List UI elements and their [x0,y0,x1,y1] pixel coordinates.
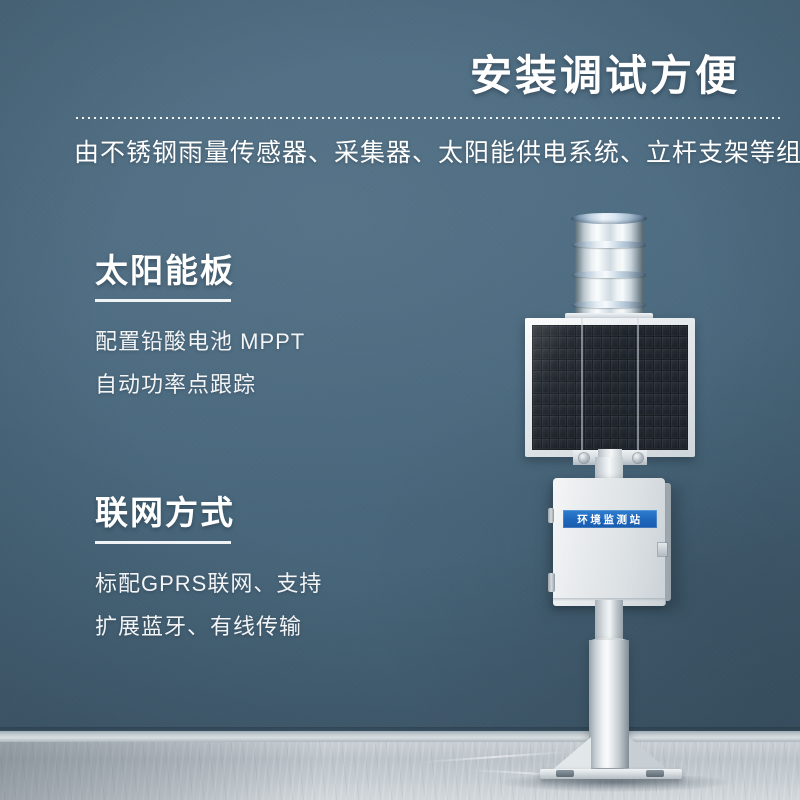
solar-cell [542,439,550,449]
solar-cell [602,382,610,392]
solar-cell [628,394,636,404]
solar-cell [585,405,593,415]
solar-cell [636,405,644,415]
solar-cell [611,405,619,415]
solar-cell [567,337,575,347]
solar-cell [611,337,619,347]
solar-cell [542,405,550,415]
solar-cell [567,416,575,426]
solar-cell [654,360,662,370]
solar-cell [671,382,679,392]
solar-cell [619,405,627,415]
solar-cell [593,326,601,336]
solar-cell [619,427,627,437]
solar-cell [567,371,575,381]
solar-cell [671,360,679,370]
solar-cell [559,326,567,336]
solar-cell [619,349,627,359]
solar-cell [671,416,679,426]
data-logger-enclosure [553,478,665,606]
solar-cell [654,349,662,359]
solar-cell [533,439,541,449]
solar-cell [542,349,550,359]
solar-cell [550,337,558,347]
solar-cell [585,326,593,336]
solar-cell [542,326,550,336]
product-marketing-image: 安装调试方便 由不锈钢雨量传感器、采集器、太阳能供电系统、立杆支架等组成 太阳能… [0,0,800,800]
solar-cell [654,337,662,347]
solar-cell [567,360,575,370]
solar-cell [585,349,593,359]
solar-cell [576,326,584,336]
solar-cell [654,371,662,381]
solar-cell [628,416,636,426]
solar-cell [602,416,610,426]
solar-cell [619,337,627,347]
solar-cell [619,326,627,336]
solar-cell [619,360,627,370]
solar-cell [542,427,550,437]
solar-cell [533,382,541,392]
solar-cell [645,349,653,359]
solar-cell [576,371,584,381]
solar-cell [679,427,687,437]
solar-cell [550,416,558,426]
solar-panel-cell-grid [532,325,688,450]
solar-cell [611,371,619,381]
solar-cell [542,360,550,370]
solar-cell [593,349,601,359]
solar-cell [671,326,679,336]
solar-cell [679,349,687,359]
solar-cell [611,439,619,449]
solar-cell [645,326,653,336]
solar-cell [645,439,653,449]
solar-cell [679,439,687,449]
solar-cell [567,394,575,404]
solar-cell [585,416,593,426]
rain-gauge-rim [571,213,647,224]
solar-cell [619,439,627,449]
solar-cell [619,382,627,392]
solar-cell [550,405,558,415]
solar-cell [576,382,584,392]
solar-cell [559,360,567,370]
bracket-bolt [579,453,589,463]
solar-cell [654,427,662,437]
solar-cell [654,405,662,415]
solar-cell [679,405,687,415]
solar-cell [567,326,575,336]
solar-cell [602,371,610,381]
solar-cell [671,427,679,437]
solar-cell [559,371,567,381]
solar-cell [645,382,653,392]
solar-cell [593,360,601,370]
solar-cell [611,326,619,336]
solar-cell [662,405,670,415]
solar-cell [679,371,687,381]
solar-cell [602,326,610,336]
solar-cell [559,439,567,449]
status-badge: 环境监测站 [563,510,657,528]
solar-cell [679,382,687,392]
solar-cell [542,371,550,381]
solar-cell [671,439,679,449]
solar-cell [636,416,644,426]
rain-gauge-icon [571,213,647,321]
solar-cell [533,349,541,359]
solar-cell [593,371,601,381]
solar-cell [636,337,644,347]
solar-cell [645,427,653,437]
mounting-pole [589,640,629,768]
solar-cell [671,349,679,359]
solar-cell [533,394,541,404]
solar-cell [593,337,601,347]
anchor-bolt [556,770,574,777]
solar-cell [602,360,610,370]
solar-cell [628,427,636,437]
solar-cell [559,394,567,404]
enclosure-latch[interactable] [548,508,554,523]
solar-cell [585,337,593,347]
solar-cell [533,405,541,415]
solar-cell [533,427,541,437]
solar-cell [636,427,644,437]
solar-cell [662,337,670,347]
solar-cell [533,326,541,336]
solar-cell [602,405,610,415]
solar-cell [611,416,619,426]
solar-cell [636,349,644,359]
rain-gauge-ring [572,241,646,248]
solar-cell [559,416,567,426]
solar-cell [662,416,670,426]
solar-cell [533,371,541,381]
solar-cell [619,416,627,426]
solar-cell [628,439,636,449]
solar-cell [645,405,653,415]
solar-cell [593,394,601,404]
solar-cell [619,394,627,404]
solar-cell [533,360,541,370]
solar-cell [611,360,619,370]
solar-cell [576,349,584,359]
solar-cell [636,326,644,336]
solar-cell [585,427,593,437]
solar-cell [542,337,550,347]
solar-cell [671,394,679,404]
solar-cell [576,427,584,437]
solar-cell [576,394,584,404]
solar-cell [611,382,619,392]
solar-cell [550,382,558,392]
solar-cell [662,349,670,359]
solar-cell [550,439,558,449]
solar-cell [559,337,567,347]
solar-cell [576,360,584,370]
enclosure-lock-icon[interactable] [658,543,667,556]
solar-cell [593,405,601,415]
solar-cell [662,326,670,336]
solar-cell [585,360,593,370]
solar-cell [636,439,644,449]
solar-cell [559,382,567,392]
solar-cell [636,382,644,392]
solar-cell [679,326,687,336]
enclosure-label: 环境监测站 [577,512,643,527]
solar-cell [602,427,610,437]
enclosure-latch[interactable] [548,573,555,592]
solar-cell [662,439,670,449]
solar-cell [628,371,636,381]
solar-cell [645,371,653,381]
solar-cell [559,405,567,415]
base-gusset [551,737,591,771]
solar-cell [662,360,670,370]
solar-cell [550,371,558,381]
solar-cell [550,394,558,404]
product-illustration: 环境监测站 [0,0,800,800]
solar-cell [645,360,653,370]
solar-cell [628,349,636,359]
solar-cell [611,349,619,359]
solar-cell [645,416,653,426]
solar-cell [611,394,619,404]
solar-cell [542,382,550,392]
solar-cell [567,427,575,437]
solar-cell [679,416,687,426]
solar-cell [636,371,644,381]
solar-cell [628,360,636,370]
solar-cell [628,405,636,415]
solar-cell [628,337,636,347]
solar-cell [585,382,593,392]
solar-cell [576,405,584,415]
solar-cell [679,394,687,404]
solar-cell [662,394,670,404]
solar-cell [611,427,619,437]
solar-cell [671,371,679,381]
solar-cell [593,427,601,437]
solar-cell [654,439,662,449]
rain-gauge-ring [572,301,646,308]
solar-cell [567,439,575,449]
solar-cell [533,416,541,426]
solar-cell [654,326,662,336]
solar-cell [662,427,670,437]
solar-cell [654,382,662,392]
solar-cell [533,337,541,347]
solar-cell [679,337,687,347]
solar-cell [628,326,636,336]
solar-cell [585,394,593,404]
solar-cell [593,382,601,392]
solar-cell [567,382,575,392]
base-gusset [629,737,669,771]
solar-cell [602,439,610,449]
solar-cell [585,439,593,449]
solar-cell [602,337,610,347]
solar-cell [593,439,601,449]
solar-cell [654,416,662,426]
solar-cell [576,439,584,449]
solar-cell [628,382,636,392]
solar-cell [559,427,567,437]
solar-cell [602,349,610,359]
solar-cell [542,416,550,426]
solar-cell [636,394,644,404]
solar-cell [662,371,670,381]
solar-cell [662,382,670,392]
rain-gauge-ring [572,271,646,278]
solar-cell [559,349,567,359]
solar-cell [654,394,662,404]
solar-cell [593,416,601,426]
solar-cell [576,416,584,426]
solar-cell [636,360,644,370]
solar-cell [619,371,627,381]
solar-cell [550,349,558,359]
solar-cell [671,337,679,347]
solar-cell [645,394,653,404]
solar-cell [550,427,558,437]
solar-cell [602,394,610,404]
solar-panel-icon [525,318,695,457]
solar-cell [671,405,679,415]
solar-cell [567,405,575,415]
solar-cell [576,337,584,347]
anchor-bolt [646,770,664,777]
solar-cell [550,326,558,336]
bracket-bolt [633,453,643,463]
solar-cell [679,360,687,370]
solar-cell [567,349,575,359]
solar-cell [550,360,558,370]
solar-cell [542,394,550,404]
solar-cell [645,337,653,347]
solar-cell [585,371,593,381]
